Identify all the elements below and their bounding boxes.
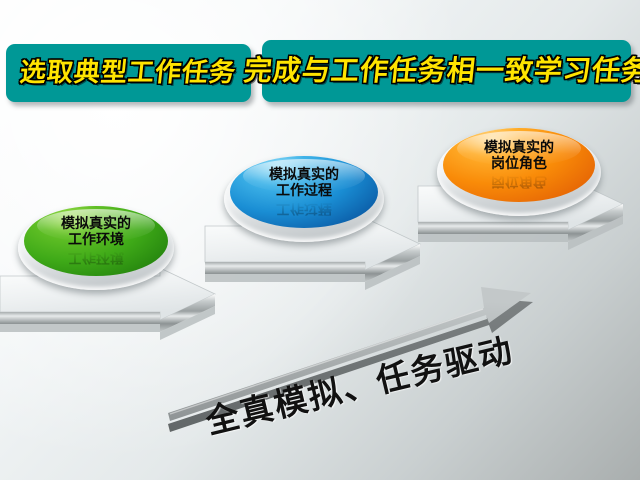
button-blue-dome[interactable]: 模拟真实的 工作过程 工作过程 — [230, 156, 378, 228]
button-green-dome[interactable]: 模拟真实的 工作环境 工作环境 — [24, 206, 168, 276]
banner-2-label: 完成与工作任务相一致学习任务 — [242, 57, 640, 85]
button-orange-refl-line2: 岗位角色 — [491, 173, 547, 189]
button-simulate-real-job-role[interactable]: 模拟真实的 岗位角色 岗位角色 — [437, 128, 601, 222]
button-green-line2: 工作环境 — [61, 233, 131, 249]
button-blue-reflection: 工作过程 — [276, 200, 332, 216]
button-green-label: 模拟真实的 工作环境 — [61, 217, 131, 248]
button-blue-line2: 工作过程 — [269, 184, 339, 200]
button-orange-label: 模拟真实的 岗位角色 — [484, 141, 554, 172]
button-orange-line1: 模拟真实的 — [484, 141, 554, 157]
button-orange-dome[interactable]: 模拟真实的 岗位角色 岗位角色 — [443, 128, 595, 202]
banner-1-label: 选取典型工作任务 — [19, 60, 238, 86]
button-simulate-real-work-process[interactable]: 模拟真实的 工作过程 工作过程 — [224, 156, 384, 248]
button-orange-reflection: 岗位角色 — [491, 173, 547, 189]
button-orange-line2: 岗位角色 — [484, 157, 554, 173]
button-green-reflection: 工作环境 — [68, 249, 124, 265]
banner-select-typical-work-task[interactable]: 选取典型工作任务 — [6, 44, 251, 102]
button-blue-refl-line2: 工作过程 — [276, 200, 332, 216]
slide-canvas: 选取典型工作任务 完成与工作任务相一致学习任务 — [0, 0, 640, 480]
button-blue-line1: 模拟真实的 — [269, 168, 339, 184]
button-blue-label: 模拟真实的 工作过程 — [269, 168, 339, 199]
button-simulate-real-work-environment[interactable]: 模拟真实的 工作环境 工作环境 — [18, 206, 174, 296]
banner-complete-matching-learning-task[interactable]: 完成与工作任务相一致学习任务 — [262, 40, 631, 102]
button-green-refl-line2: 工作环境 — [68, 249, 124, 265]
button-green-line1: 模拟真实的 — [61, 217, 131, 233]
